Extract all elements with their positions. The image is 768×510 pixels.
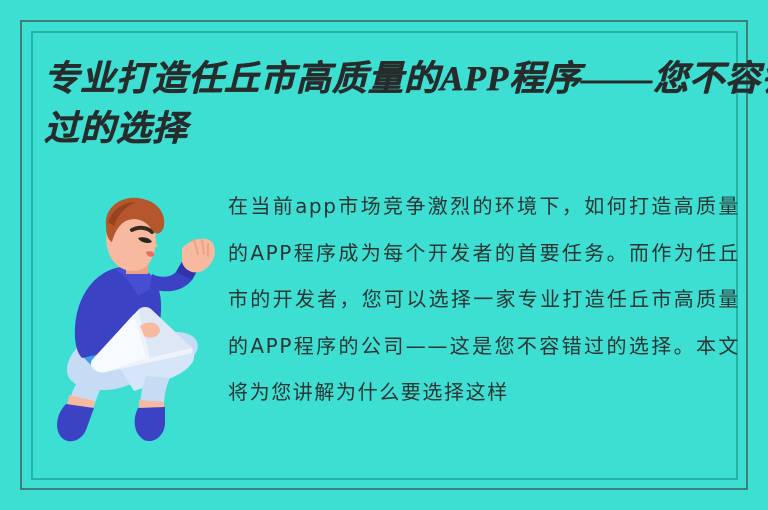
body-paragraph: 在当前app市场竞争激烈的环境下，如何打造高质量的APP程序成为每个开发者的首要…: [228, 183, 740, 416]
poster-canvas: 专业打造任丘市高质量的APP程序——您不容错过的选择: [0, 0, 768, 510]
person-sitting-crosslegged-with-laptop-illustration: [42, 192, 234, 444]
page-title: 专业打造任丘市高质量的APP程序——您不容错过的选择: [44, 54, 768, 154]
